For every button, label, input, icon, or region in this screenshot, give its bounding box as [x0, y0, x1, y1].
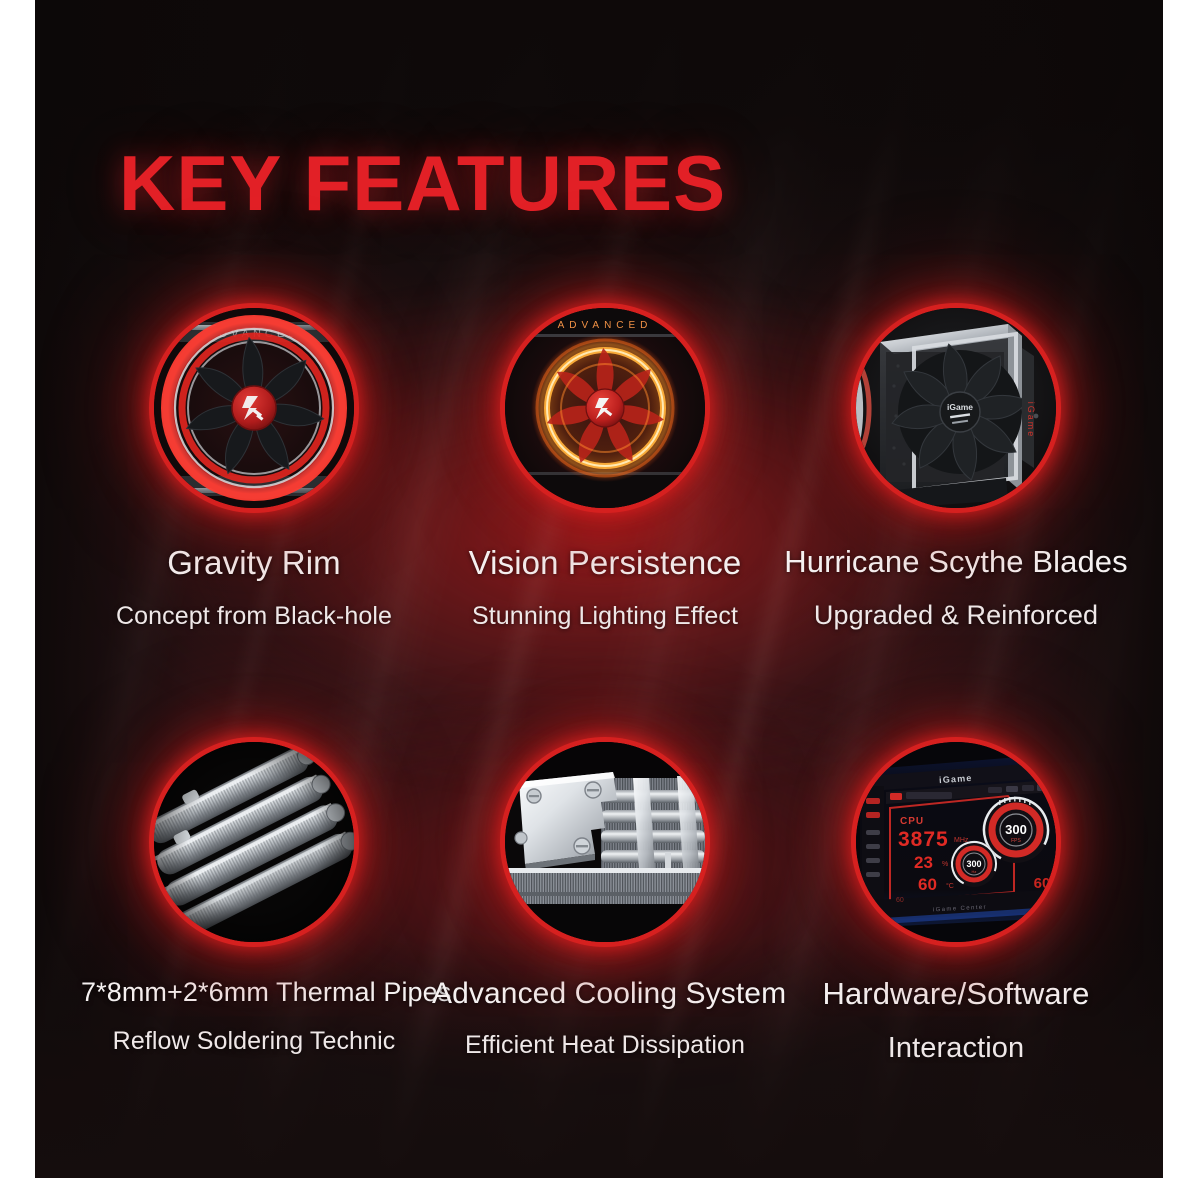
feature-thumb-wrap: ADVANCED — [154, 308, 354, 508]
svg-text:60: 60 — [896, 897, 904, 904]
feature-thumb-wrap — [505, 742, 705, 942]
feature-title: 7*8mm+2*6mm Thermal Pipes — [81, 978, 427, 1006]
feature-title: Hardware/Software — [783, 978, 1129, 1011]
feature-thumb-wrap: ADVANCED — [505, 308, 705, 508]
gpu-fan-red-ring-icon: ADVANCED — [154, 308, 354, 508]
feature-card-gravity-rim: ADVANCED — [81, 308, 427, 629]
feature-subtitle: Interaction — [783, 1033, 1129, 1063]
feature-card-hardware-software: iGame — [783, 742, 1129, 1063]
feature-card-advanced-cooling: Advanced Cooling System Efficient Heat D… — [432, 742, 778, 1058]
feature-title: Gravity Rim — [81, 546, 427, 581]
svg-text:60: 60 — [1034, 875, 1051, 892]
svg-text:300: 300 — [1005, 822, 1027, 837]
feature-thumb-wrap: iGame — [856, 742, 1056, 942]
svg-text:ADVANCED: ADVANCED — [558, 320, 653, 331]
dark-panel: KEY FEATURES — [35, 0, 1163, 1178]
key-features-page: KEY FEATURES — [0, 0, 1200, 1178]
feature-card-thermal-pipes: 7*8mm+2*6mm Thermal Pipes Reflow Solderi… — [81, 742, 427, 1055]
svg-text:60: 60 — [918, 875, 937, 894]
svg-text:iGame: iGame — [1026, 402, 1036, 439]
svg-text:FPS: FPS — [1011, 838, 1021, 844]
feature-card-hurricane-scythe-blades: iGame iGame Hurricane Scythe Blades — [783, 308, 1129, 629]
thermal-heatpipes-icon — [154, 742, 354, 942]
svg-text:3875: 3875 — [898, 828, 949, 851]
svg-text:23: 23 — [914, 853, 933, 872]
svg-text:iGame: iGame — [947, 402, 973, 412]
feature-title: Advanced Cooling System — [432, 978, 778, 1010]
feature-card-vision-persistence: ADVANCED — [432, 308, 778, 629]
feature-subtitle: Concept from Black-hole — [81, 603, 427, 629]
feature-thumb-wrap: iGame iGame — [856, 308, 1056, 508]
svg-text:300: 300 — [966, 859, 981, 869]
feature-subtitle: Stunning Lighting Effect — [432, 603, 778, 629]
feature-thumb-wrap — [154, 742, 354, 942]
svg-text:%: % — [942, 861, 948, 868]
features-grid: ADVANCED — [35, 0, 1163, 1178]
svg-text:CPU: CPU — [900, 816, 924, 827]
feature-subtitle: Efficient Heat Dissipation — [432, 1032, 778, 1058]
feature-subtitle: Upgraded & Reinforced — [783, 601, 1129, 629]
feature-title: Vision Persistence — [432, 546, 778, 581]
svg-text:Hz: Hz — [972, 869, 977, 874]
svg-text:°C: °C — [946, 882, 954, 890]
heatsink-coldplate-icon — [505, 742, 705, 942]
feature-title: Hurricane Scythe Blades — [783, 546, 1129, 579]
glowing-fan-ring-icon: ADVANCED — [505, 308, 705, 508]
feature-subtitle: Reflow Soldering Technic — [81, 1028, 427, 1054]
gpu-card-fan-icon: iGame iGame — [856, 308, 1056, 508]
monitoring-software-icon: iGame — [856, 742, 1056, 942]
